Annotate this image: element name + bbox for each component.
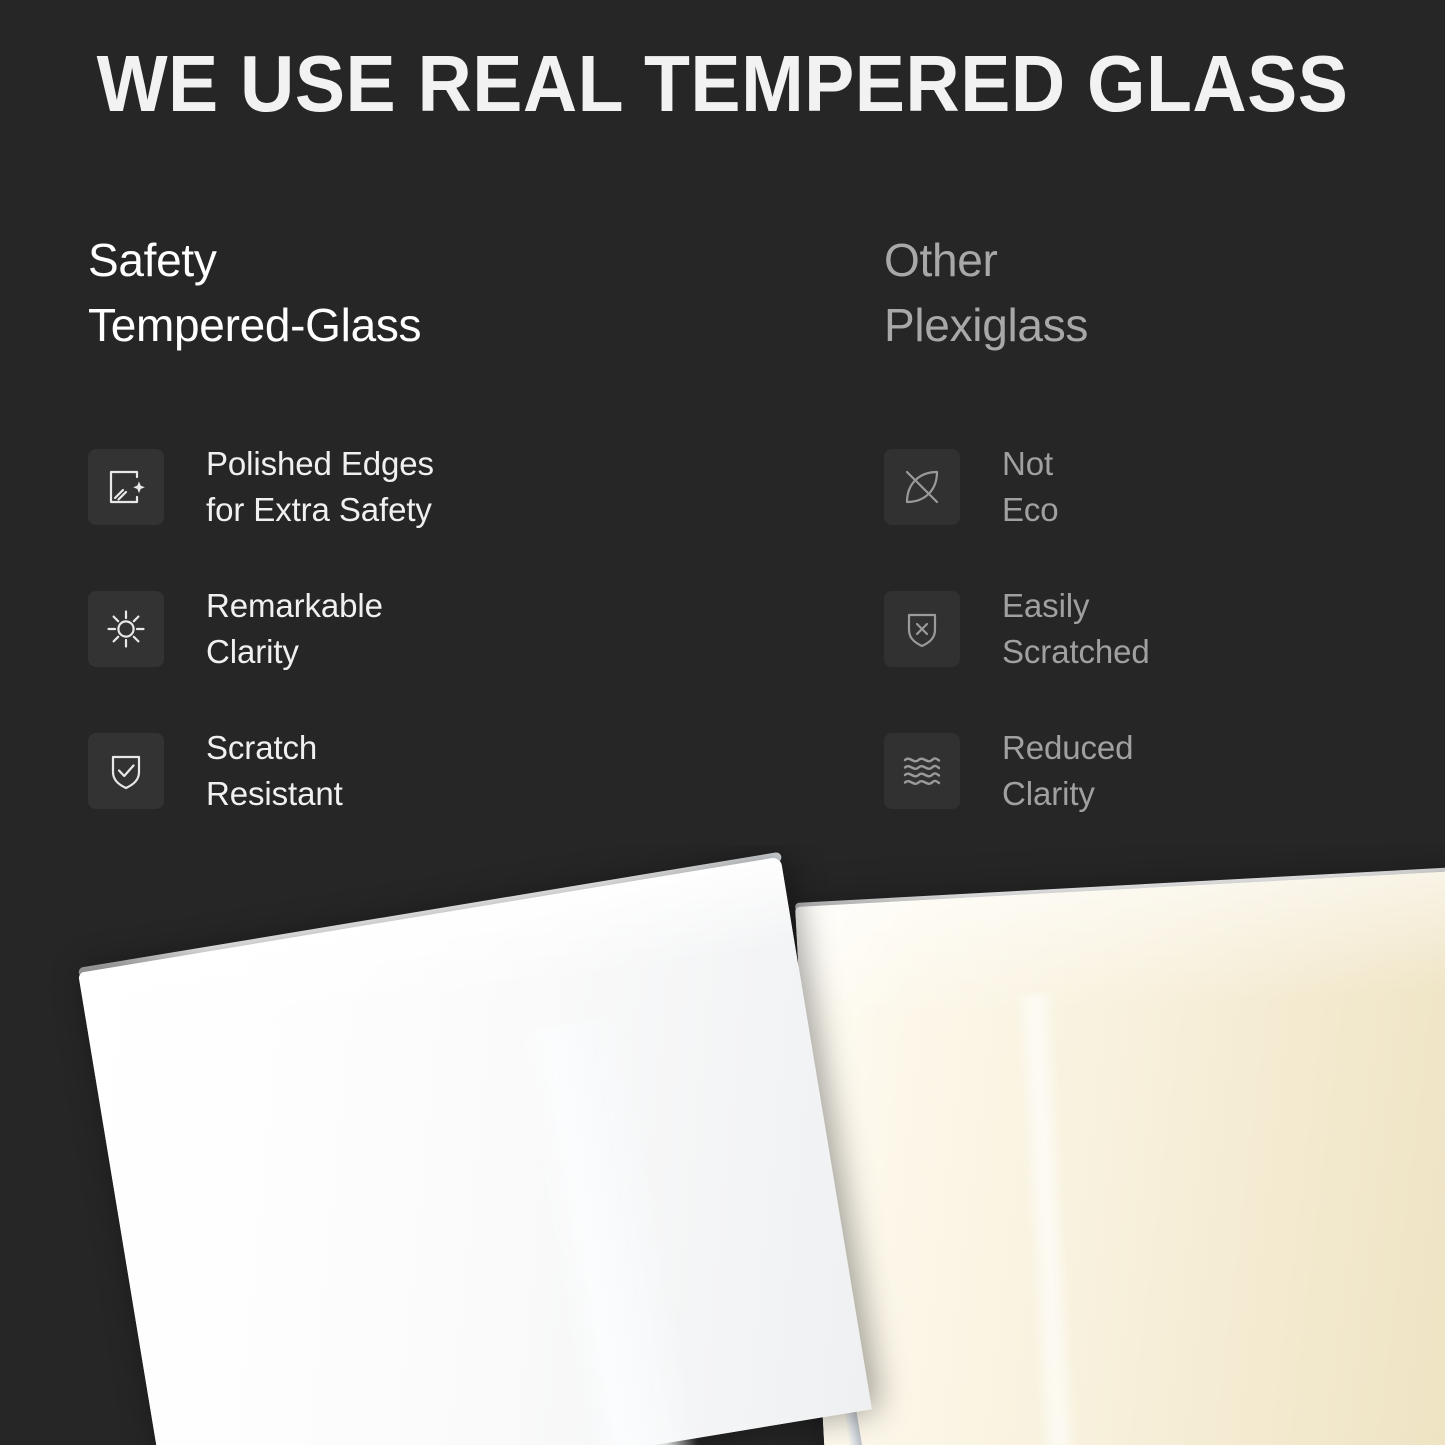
shield-x-icon (884, 591, 960, 667)
feature-row: Scratch Resistant (88, 724, 808, 818)
tempered-glass-panel (78, 857, 872, 1445)
feature-row: Not Eco (884, 440, 1444, 534)
plexiglass-panel (795, 869, 1445, 1445)
feature-row: Remarkable Clarity (88, 582, 808, 676)
comparison-section: Safety Tempered-Glass Polished Edges for… (0, 228, 1445, 868)
shield-check-icon (88, 733, 164, 809)
column-heading-right: Other Plexiglass (884, 228, 1444, 359)
feature-row: Polished Edges for Extra Safety (88, 440, 808, 534)
column-other-plexiglass: Other Plexiglass Not Eco (884, 228, 1444, 359)
feature-label: Not Eco (1002, 441, 1059, 532)
feature-list-left: Polished Edges for Extra Safety (88, 440, 808, 818)
wavy-lines-icon (884, 733, 960, 809)
polished-glass-sparkle-icon (88, 449, 164, 525)
feature-list-right: Not Eco Easily Scratched (884, 440, 1444, 818)
column-safety-tempered-glass: Safety Tempered-Glass Polished Edges for… (88, 228, 808, 359)
leaf-crossed-out-icon (884, 449, 960, 525)
feature-label: Easily Scratched (1002, 583, 1150, 674)
sun-brightness-icon (88, 591, 164, 667)
feature-row: Reduced Clarity (884, 724, 1444, 818)
page-title: WE USE REAL TEMPERED GLASS (43, 44, 1401, 124)
feature-label: Reduced Clarity (1002, 725, 1133, 816)
feature-label: Remarkable Clarity (206, 583, 383, 674)
feature-row: Easily Scratched (884, 582, 1444, 676)
feature-label: Polished Edges for Extra Safety (206, 441, 434, 532)
feature-label: Scratch Resistant (206, 725, 343, 816)
product-photo (0, 845, 1445, 1445)
column-heading-left: Safety Tempered-Glass (88, 228, 808, 359)
